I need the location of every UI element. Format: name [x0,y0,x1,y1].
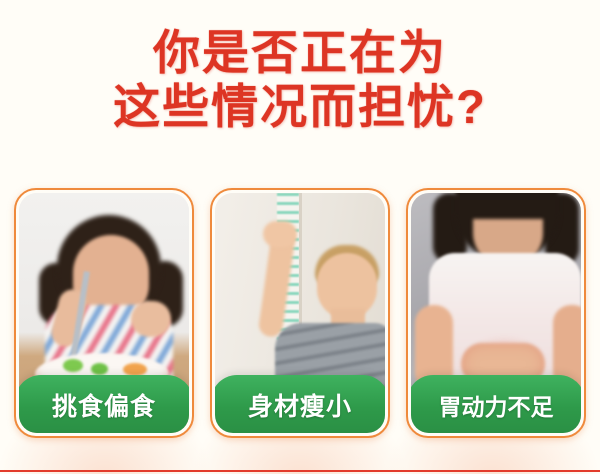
symptom-badge-label-1: 挑食偏食 [52,387,156,423]
card-inner-2: 身材瘦小 [215,193,385,433]
page-title-line-1: 你是否正在为 [0,26,600,80]
symptom-badge-2: 身材瘦小 [215,375,385,433]
page-title: 你是否正在为 这些情况而担忧? [0,26,600,133]
symptom-badge-3: 胃动力不足 [411,375,581,433]
card-inner-1: 挑食偏食 [19,193,189,433]
symptom-card-list: 挑食偏食 身材瘦小 [14,188,586,438]
symptom-badge-label-2: 身材瘦小 [248,387,352,423]
symptom-card-picky-eating[interactable]: 挑食偏食 [14,188,194,438]
card-inner-3: 胃动力不足 [411,193,581,433]
symptom-card-small-stature[interactable]: 身材瘦小 [210,188,390,438]
symptom-card-poor-gastric-motility[interactable]: 胃动力不足 [406,188,586,438]
symptom-badge-label-3: 胃动力不足 [439,388,554,422]
page-title-line-2: 这些情况而担忧? [0,80,600,134]
symptom-badge-1: 挑食偏食 [19,375,189,433]
bottom-divider [0,470,600,472]
